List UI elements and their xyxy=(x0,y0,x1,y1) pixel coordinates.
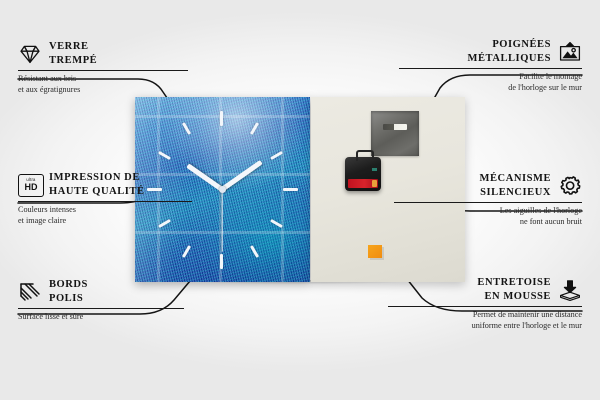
mechanism-hook xyxy=(356,150,374,161)
battery-terminal xyxy=(372,180,377,187)
callout-title-line2: HAUTE QUALITÉ xyxy=(49,185,145,199)
polished-edges-icon xyxy=(18,281,42,303)
callout-title-line1: BORDS xyxy=(49,278,88,292)
hanger-slot xyxy=(383,124,407,130)
callout-subtitle-line1: Permet de maintenir une distance xyxy=(386,310,582,321)
clock-minute-hand xyxy=(221,160,263,192)
metal-hanger-plate-icon xyxy=(371,111,419,156)
callout-entretoise-en-mousse: ENTRETOISE EN MOUSSE Permet de maintenir… xyxy=(386,276,582,331)
tick-4 xyxy=(270,219,283,228)
tick-11 xyxy=(182,122,191,135)
infographic-canvas: VERRE TREMPÉ Résistant aux bris et aux é… xyxy=(0,0,600,400)
ultra-hd-badge-icon: ultra HD xyxy=(18,174,42,196)
mechanism-label-dot xyxy=(372,168,377,171)
callout-subtitle-line2: ne font aucun bruit xyxy=(392,217,582,228)
callout-impression-haute-qualite: ultra HD IMPRESSION DE HAUTE QUALITÉ Cou… xyxy=(18,171,194,226)
callout-bords-polis: BORDS POLIS Surface lisse et sûre xyxy=(18,278,186,323)
quartz-mechanism xyxy=(345,157,381,191)
callout-subtitle-line2: uniforme entre l'horloge et le mur xyxy=(386,321,582,332)
callout-rule xyxy=(394,202,582,203)
battery xyxy=(348,179,378,188)
callout-title-line1: VERRE xyxy=(49,40,97,54)
callout-rule xyxy=(388,306,582,307)
callout-subtitle-line1: Facilite le montage xyxy=(397,72,582,83)
callout-mecanisme-silencieux: MÉCANISME SILENCIEUX Les aiguilles de l'… xyxy=(392,172,582,227)
tick-7 xyxy=(182,245,191,258)
tick-6 xyxy=(220,254,223,269)
tick-5 xyxy=(250,245,259,258)
tick-10 xyxy=(158,151,171,160)
callout-subtitle-line2: de l'horloge sur le mur xyxy=(397,83,582,94)
callout-subtitle-line1: Surface lisse et sûre xyxy=(18,312,186,323)
callout-rule xyxy=(18,201,192,202)
gear-icon xyxy=(558,175,582,197)
callout-subtitle-line2: et image claire xyxy=(18,216,194,227)
callout-title-line1: IMPRESSION DE xyxy=(49,171,145,185)
callout-verre-trempe: VERRE TREMPÉ Résistant aux bris et aux é… xyxy=(18,40,190,95)
tick-12 xyxy=(220,111,223,126)
tick-3 xyxy=(283,188,298,191)
callout-title-line1: ENTRETOISE xyxy=(477,276,551,290)
callout-rule xyxy=(399,68,582,69)
callout-rule xyxy=(18,308,184,309)
callout-title-line2: MÉTALLIQUES xyxy=(468,52,551,66)
clock-second-hand xyxy=(221,190,222,252)
callout-title-line2: TREMPÉ xyxy=(49,54,97,68)
callout-subtitle-line2: et aux égratignures xyxy=(18,85,190,96)
clock-center-cap xyxy=(219,186,226,193)
ultra-hd-main-text: HD xyxy=(25,183,38,192)
callout-title-line1: MÉCANISME xyxy=(480,172,551,186)
callout-rule xyxy=(18,70,188,71)
callout-poignees-metalliques: POIGNÉES MÉTALLIQUES Facilite le montage… xyxy=(397,38,582,93)
picture-frame-hanger-icon xyxy=(558,41,582,63)
callout-title-line1: POIGNÉES xyxy=(468,38,551,52)
tick-1 xyxy=(250,122,259,135)
callout-subtitle-line1: Les aiguilles de l'horloge xyxy=(392,206,582,217)
callout-title-line2: EN MOUSSE xyxy=(477,290,551,304)
callout-title-line2: POLIS xyxy=(49,292,88,306)
callout-subtitle-line1: Couleurs intenses xyxy=(18,205,194,216)
diamond-icon xyxy=(18,43,42,65)
down-arrow-onto-layer-icon xyxy=(558,279,582,301)
foam-spacer xyxy=(368,245,382,258)
callout-title-line2: SILENCIEUX xyxy=(480,186,551,200)
callout-subtitle-line1: Résistant aux bris xyxy=(18,74,190,85)
tick-2 xyxy=(270,151,283,160)
